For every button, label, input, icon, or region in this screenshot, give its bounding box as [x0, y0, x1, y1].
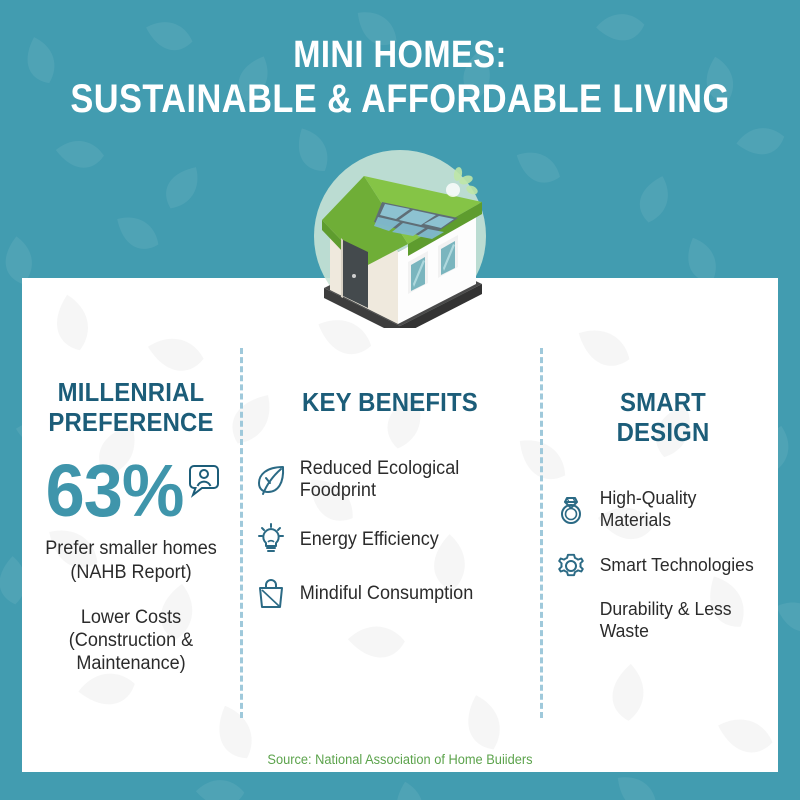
title-line-2: SUSTAINABLE & AFFORDABLE LIVING [56, 77, 744, 122]
left-text-1-line1: Prefer smaller homes [45, 538, 217, 559]
shopping-bag-icon [248, 577, 294, 611]
stat-row: 63% [22, 457, 240, 525]
title-line-1: MINI HOMES: [56, 34, 744, 77]
benefit-list: Reduced Ecological Foodprint Energy Effi… [248, 458, 532, 612]
column-left-heading-line1: MILLENRIAL [58, 377, 205, 407]
source-caption: Source: National Association of Home Bui… [20, 752, 780, 767]
column-millennial-preference: MILLENRIAL PREFERENCE 63% Prefer smaller… [22, 378, 240, 675]
design-list: High-Quality Materials Smart Technologie… [548, 487, 778, 642]
benefit-1-line1: Reduced Ecological [300, 458, 460, 479]
page-title: MINI HOMES: SUSTAINABLE & AFFORDABLE LIV… [56, 34, 744, 121]
list-item: Smart Technologies [548, 548, 778, 582]
column-middle-heading: KEY BENEFITS [259, 388, 520, 418]
diamond-ring-icon [548, 492, 594, 526]
left-text-1-line2: (NAHB Report) [70, 562, 191, 583]
list-item-label: Mindiful Consumption [294, 583, 473, 606]
list-item-label: Smart Technologies [594, 554, 754, 576]
column-right-heading: SMART DESIGN [557, 388, 769, 447]
eco-house-illustration [286, 148, 514, 328]
gear-icon [548, 548, 594, 582]
list-item-label: Reduced Ecological Foodprint [294, 458, 459, 504]
list-item: High-Quality Materials [548, 487, 778, 531]
column-right-heading-line2: DESIGN [617, 417, 710, 447]
column-left-heading: MILLENRIAL PREFERENCE [31, 378, 232, 437]
benefit-1-line2: Foodprint [300, 480, 376, 501]
list-item: Reduced Ecological Foodprint [248, 458, 532, 504]
left-text-2-line1: Lower Costs [81, 607, 181, 628]
leaf-icon [248, 463, 294, 497]
list-item-label: High-Quality Materials [594, 487, 769, 531]
list-item-label: Durability & Less Waste [594, 598, 769, 642]
column-right-heading-line1: SMART [620, 387, 706, 417]
column-key-benefits: KEY BENEFITS Reduced Ecological Foodprin… [248, 388, 532, 631]
divider-right [540, 348, 543, 718]
divider-left [240, 348, 243, 718]
left-text-block-1: Prefer smaller homes (NAHB Report) [27, 537, 234, 583]
stat-value: 63% [46, 457, 184, 525]
list-item: Energy Efficiency [248, 523, 532, 557]
person-speech-bubble-icon [182, 463, 220, 506]
column-smart-design: SMART DESIGN High-Quality Materials [548, 388, 778, 658]
left-text-2-line2: (Construction & Maintenance) [69, 630, 193, 674]
list-item: Durability & Less Waste [548, 598, 778, 642]
column-left-heading-line2: PREFERENCE [48, 407, 213, 437]
list-item: Mindiful Consumption [248, 577, 532, 611]
list-item-label: Energy Efficiency [294, 529, 439, 552]
left-text-block-2: Lower Costs (Construction & Maintenance) [27, 606, 234, 676]
lightbulb-icon [248, 523, 294, 557]
